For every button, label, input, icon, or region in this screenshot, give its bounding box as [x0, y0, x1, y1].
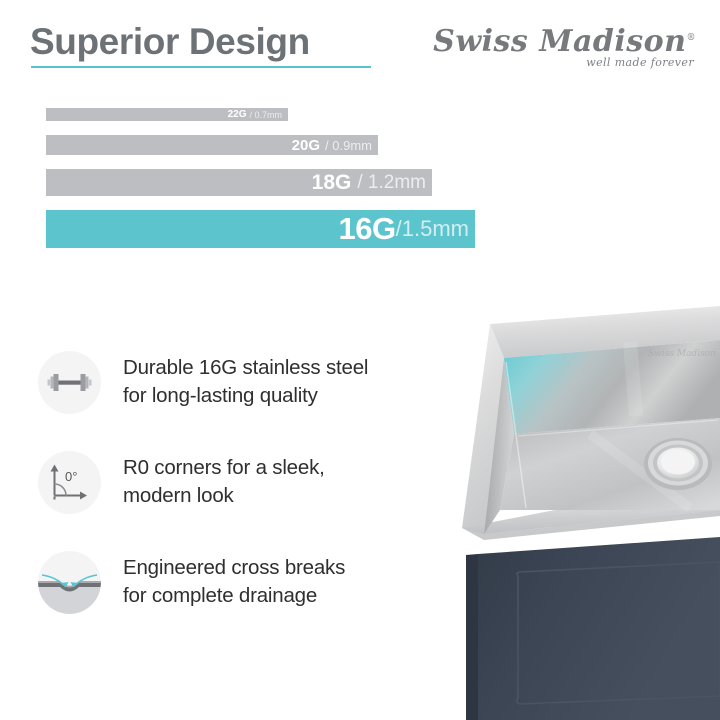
gauge-bar-22g: 22G / 0.7mm	[46, 108, 288, 121]
gauge-bar-20g: 20G / 0.9mm	[46, 135, 378, 155]
gauge-bar-16g-thickness: /1.5mm	[396, 216, 469, 242]
feature-text-line1: Durable 16G stainless steel	[123, 354, 368, 382]
brand-logo-name: Swiss Madison®	[433, 22, 696, 58]
feature-text-line2: modern look	[123, 482, 325, 510]
feature-text-line1: Engineered cross breaks	[123, 554, 345, 582]
angle-zero-degree-icon: 0°	[38, 451, 101, 514]
gauge-bar-20g-label: 20G	[292, 137, 320, 154]
feature-text-durability: Durable 16G stainless steel for long-las…	[123, 354, 368, 410]
gauge-bar-22g-thickness: / 0.7mm	[249, 110, 282, 120]
gauge-bar-18g: 18G / 1.2mm	[46, 169, 432, 196]
infographic-page: Superior Design Swiss Madison® well made…	[0, 0, 720, 720]
svg-text:Swiss Madison: Swiss Madison	[648, 349, 716, 359]
dumbbell-icon	[38, 351, 101, 414]
feature-item-r0-corners: 0° R0 corners for a sleek, modern look	[0, 432, 450, 532]
registered-trademark-icon: ®	[687, 33, 697, 43]
feature-item-durability: Durable 16G stainless steel for long-las…	[0, 332, 450, 432]
feature-text-line1: R0 corners for a sleek,	[123, 454, 325, 482]
gauge-bar-16g-highlighted: 16G /1.5mm	[46, 210, 475, 248]
gauge-bar-16g-label: 16G	[339, 211, 396, 247]
header: Superior Design Swiss Madison® well made…	[0, 0, 720, 100]
feature-text-r0-corners: R0 corners for a sleek, modern look	[123, 454, 325, 510]
brand-logo: Swiss Madison® well made forever	[433, 22, 696, 69]
feature-text-cross-breaks: Engineered cross breaks for complete dra…	[123, 554, 345, 610]
gauge-bar-18g-thickness: / 1.2mm	[357, 172, 426, 194]
feature-item-cross-breaks: Engineered cross breaks for complete dra…	[0, 532, 450, 632]
gauge-bar-20g-thickness: / 0.9mm	[325, 138, 372, 153]
feature-text-line2: for complete drainage	[123, 582, 345, 610]
gauge-bar-22g-label: 22G	[228, 109, 247, 120]
stainless-steel-undermount-sink-photo: Swiss Madison	[440, 296, 720, 720]
title-underline-rule	[31, 66, 371, 68]
page-title-wrap: Superior Design	[30, 20, 310, 64]
feature-list: Durable 16G stainless steel for long-las…	[0, 332, 450, 632]
cross-break-drainage-icon	[38, 551, 101, 614]
feature-text-line2: for long-lasting quality	[123, 382, 368, 410]
gauge-bar-18g-label: 18G	[312, 171, 352, 195]
svg-text:0°: 0°	[65, 469, 77, 484]
brand-logo-text: Swiss Madison	[433, 24, 686, 59]
page-title: Superior Design	[30, 20, 310, 64]
gauge-comparison-chart: 22G / 0.7mm 20G / 0.9mm 18G / 1.2mm 16G …	[0, 108, 500, 248]
